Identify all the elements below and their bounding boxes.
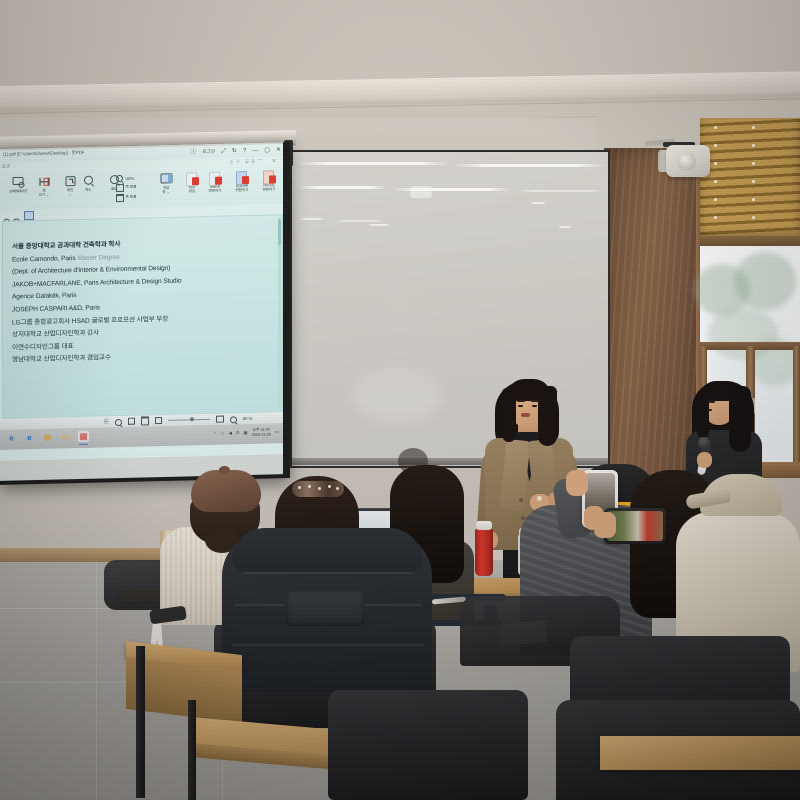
zoom-100-label: 100% — [125, 176, 134, 180]
zoom-slider-knob[interactable] — [190, 417, 194, 421]
fit-width-button[interactable]: 폭 맞춤 — [116, 193, 136, 202]
close-icon[interactable]: ✕ — [276, 147, 281, 153]
zoom-out-icon — [84, 174, 93, 187]
fit-width-icon — [116, 193, 124, 202]
whiteboard-light-reflection — [410, 186, 432, 198]
clock-date: 2024-11-26 — [252, 433, 271, 437]
pdf-edit-label2: 편집 — [189, 189, 195, 193]
convert-docx-button[interactable]: DOCX로 변환하기 — [231, 170, 253, 193]
hanpdf-icon[interactable]: ▤ — [78, 431, 89, 442]
hand-holding-phone — [594, 512, 616, 538]
slide-content: 서울 중앙대학교 공과대학 건축학과 학사 Ecole Camondo, Par… — [12, 235, 274, 367]
fit-page-label: 쪽 맞춤 — [126, 185, 137, 190]
puffer-pocket — [286, 590, 364, 626]
ime-icon[interactable]: A — [236, 431, 239, 436]
clock-time: 오후 11:03 — [253, 427, 270, 431]
zoom-reset-icon[interactable] — [216, 415, 224, 423]
desk-leg — [188, 700, 196, 800]
window-blinds — [700, 118, 800, 240]
login-label[interactable]: 로그인 — [202, 149, 215, 155]
convert-pptx-label2: 변환하기 — [263, 187, 276, 191]
chair — [328, 690, 528, 800]
red-tumbler — [475, 528, 493, 576]
zoom-out-label: 축소 — [85, 188, 91, 192]
ceiling-speaker — [666, 145, 710, 177]
whiteboard — [290, 150, 610, 468]
help-icon[interactable]: ? — [243, 148, 246, 154]
ribbon-controls[interactable]: ⌄ ⌃ ✕ — [245, 158, 280, 165]
speaker-cone-icon — [677, 152, 696, 171]
pdf-page: 서울 중앙대학교 공과대학 건축학과 학사 Ecole Camondo, Par… — [2, 214, 283, 419]
hair-clip — [292, 481, 344, 497]
page-scrollbar-track[interactable] — [278, 217, 281, 409]
convert-docx-label2: 변환하기 — [236, 188, 249, 192]
fit-page-icon — [116, 184, 124, 192]
maximize-icon[interactable]: ▢ — [264, 147, 270, 153]
presenter2-hand — [697, 452, 712, 468]
page-view-button[interactable]: 쪽 보기 ⌄ — [34, 175, 54, 198]
presenter-ring — [537, 496, 542, 501]
pdf-edit-button[interactable]: PDF 편집 — [182, 171, 202, 194]
file-explorer-icon[interactable]: ▭ — [60, 431, 71, 442]
convert-pptx-icon — [263, 169, 276, 182]
convert-pptx-button[interactable]: PPTX로 변환하기 — [258, 169, 280, 192]
presenter-hair-right — [538, 386, 557, 446]
minimize-icon[interactable]: — — [252, 148, 258, 154]
network-icon[interactable]: ▭ — [220, 431, 224, 436]
fit-page-button[interactable]: 쪽 맞춤 — [116, 184, 136, 192]
task-pane-icon — [160, 172, 173, 185]
fit-width-label: 폭 맞춤 — [126, 195, 137, 200]
snapshot-icon[interactable]: ⎘ — [104, 419, 109, 425]
ime-mode-icon[interactable]: ▣ — [243, 431, 247, 436]
volume-icon[interactable]: ◀ — [229, 431, 232, 436]
window-title: (1).pdf [C:\Users\Owner\Desktop] - 한PDF — [3, 150, 85, 158]
page-view-label2: 보기 ⌄ — [39, 193, 49, 197]
rotate-icon — [64, 174, 77, 187]
desk-leg — [136, 646, 145, 798]
zoom-level-label: 80 % — [243, 416, 253, 421]
internet-explorer-icon[interactable]: e — [6, 432, 17, 443]
presenter2-hair-right — [729, 386, 751, 452]
projection-screen: (1).pdf [C:\Users\Owner\Desktop] - 한PDF … — [0, 142, 290, 485]
rotate-button[interactable]: 회전 ⌄ — [60, 174, 80, 197]
show-hidden-icons-icon[interactable]: ^ — [214, 432, 216, 437]
notification-center-icon[interactable]: ▭ — [275, 430, 279, 435]
zoom-out-button[interactable]: 축소 — [78, 174, 98, 192]
ribbon-toolbar: 프레젠테이션 쪽 보기 ⌄ — [0, 166, 283, 211]
presentation-button[interactable]: 프레젠테이션 — [8, 175, 28, 193]
convert-hwp-icon — [209, 171, 222, 184]
hand-holding-phone — [566, 470, 588, 496]
brown-beret — [191, 470, 261, 512]
presenter-hair-left — [502, 388, 516, 442]
expand-icon[interactable]: ⤢ — [221, 149, 226, 155]
single-page-icon[interactable] — [128, 417, 136, 425]
select-tool-icon[interactable] — [24, 211, 34, 220]
history-icon[interactable]: ↻ — [232, 148, 237, 154]
presenter-mouth — [521, 413, 530, 417]
zoom-slider[interactable] — [168, 419, 210, 421]
zoom-100-icon — [116, 175, 123, 182]
presentation-icon — [12, 175, 25, 188]
projection-surface: (1).pdf [C:\Users\Owner\Desktop] - 한PDF … — [0, 142, 283, 481]
presenter2-hair-left — [697, 390, 709, 438]
task-pane-label2: 창 ⌄ — [162, 190, 169, 194]
convert-docx-icon — [236, 170, 249, 183]
login-icon[interactable]: ⓘ — [190, 149, 196, 155]
facing-page-icon[interactable] — [141, 417, 149, 426]
presentation-label: 프레젠테이션 — [9, 189, 27, 193]
red-tumbler-lid — [476, 521, 492, 530]
page-scrollbar-thumb[interactable] — [278, 219, 281, 245]
active-app-underline — [79, 444, 88, 445]
menu-tools[interactable]: 도구 — [2, 164, 10, 170]
page-view-icon — [38, 175, 51, 188]
taskbar-clock[interactable]: 오후 11:03 2024-11-26 — [252, 427, 271, 438]
system-tray: ^ ▭ ◀ A ▣ 오후 11:03 2024-11-26 ▭ — [214, 427, 279, 439]
task-pane-button[interactable]: 작업 창 ⌄ — [156, 172, 176, 195]
google-chrome-icon[interactable]: ◎ — [42, 432, 53, 443]
rotate-label2: ⌄ — [69, 192, 72, 196]
puffer-hood — [232, 528, 422, 572]
convert-hwp-label2: 변환하기 — [209, 189, 222, 193]
microsoft-edge-icon[interactable]: e — [24, 432, 35, 443]
fit-icon[interactable] — [155, 417, 163, 425]
blind-headrail — [700, 236, 800, 246]
lecture-room-photo: (1).pdf [C:\Users\Owner\Desktop] - 한PDF … — [0, 0, 800, 800]
convert-hwp-button[interactable]: HWP로 변환하기 — [204, 171, 226, 194]
pdf-edit-icon — [186, 171, 199, 184]
beret-nub — [219, 466, 230, 474]
desk — [600, 736, 800, 770]
hanpdf-application-window: (1).pdf [C:\Users\Owner\Desktop] - 한PDF … — [0, 144, 283, 461]
zoom-100-button[interactable]: 100% — [116, 175, 134, 182]
